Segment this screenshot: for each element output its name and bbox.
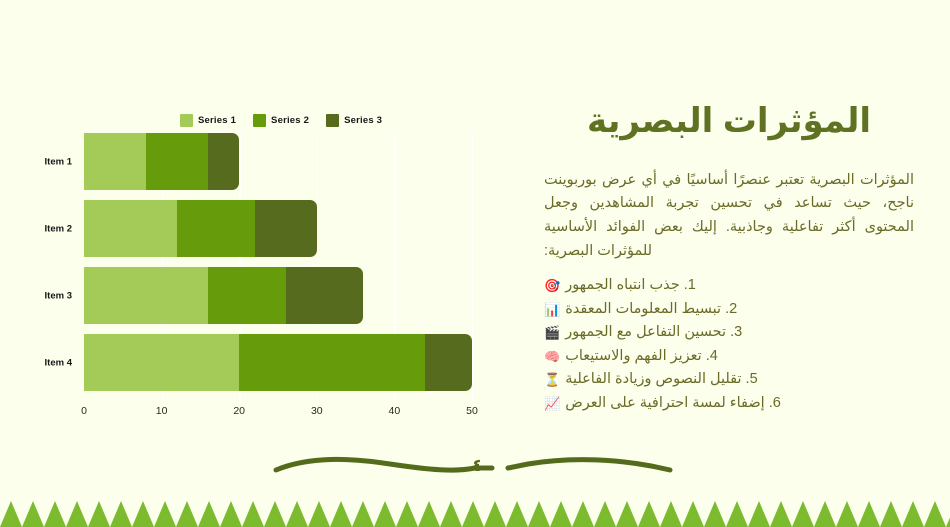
legend-entry-1: Series 1 (180, 114, 236, 127)
gridline (472, 133, 473, 403)
intro-paragraph: المؤثرات البصرية تعتبر عنصرًا أساسيًا في… (544, 169, 914, 265)
zigzag-shape (0, 501, 950, 527)
benefit-text: 3. تحسين التفاعل مع الجمهور (565, 321, 742, 344)
stacked-bar (84, 133, 239, 190)
page-title: المؤثرات البصرية (544, 100, 914, 143)
bar-segment-series-1 (84, 200, 177, 257)
benefit-text: 5. تقليل النصوص وزيادة الفاعلية (565, 368, 757, 391)
benefit-text: 4. تعزيز الفهم والاستيعاب (565, 345, 718, 368)
bar-segment-series-1 (84, 334, 239, 391)
trending-up-icon: 📈 (544, 397, 560, 410)
bar-chart-icon: 📊 (544, 303, 560, 316)
x-axis-tick: 10 (156, 405, 168, 417)
legend-swatch-icon (253, 114, 266, 127)
bar-segment-series-3 (286, 267, 364, 324)
benefit-item-4: 🧠4. تعزيز الفهم والاستيعاب (544, 345, 914, 368)
benefit-item-2: 📊2. تبسيط المعلومات المعقدة (544, 298, 914, 321)
legend-swatch-icon (180, 114, 193, 127)
category-label: Item 1 (45, 156, 72, 167)
bar-segment-series-2 (208, 267, 286, 324)
benefit-text: 2. تبسيط المعلومات المعقدة (565, 298, 737, 321)
benefit-text: 1. جذب انتباه الجمهور (565, 274, 696, 297)
benefit-item-1: 🎯1. جذب انتباه الجمهور (544, 274, 914, 297)
legend-label: Series 2 (271, 115, 309, 126)
bar-segment-series-3 (255, 200, 317, 257)
benefit-text: 6. إضفاء لمسة احترافية على العرض (565, 392, 781, 415)
bar-row: Item 1 (84, 133, 472, 190)
page-number: ٤ (472, 457, 482, 474)
x-axis-tick: 0 (81, 405, 87, 417)
legend-label: Series 3 (344, 115, 382, 126)
bar-segment-series-1 (84, 267, 208, 324)
x-axis-tick: 30 (311, 405, 323, 417)
category-label: Item 2 (45, 223, 72, 234)
benefits-list: 🎯1. جذب انتباه الجمهور📊2. تبسيط المعلوما… (544, 274, 914, 415)
x-axis-tick: 50 (466, 405, 478, 417)
stacked-bar (84, 334, 472, 391)
chart-plot-area: Item 1Item 2Item 3Item 4 (84, 133, 472, 403)
bar-row: Item 4 (84, 334, 472, 391)
legend-swatch-icon (326, 114, 339, 127)
bar-segment-series-2 (177, 200, 255, 257)
legend-label: Series 1 (198, 115, 236, 126)
bar-segment-series-2 (239, 334, 425, 391)
legend-entry-2: Series 2 (253, 114, 309, 127)
x-axis-tick: 20 (233, 405, 245, 417)
benefit-item-3: 🎬3. تحسين التفاعل مع الجمهور (544, 321, 914, 344)
benefit-item-6: 📈6. إضفاء لمسة احترافية على العرض (544, 392, 914, 415)
category-label: Item 3 (45, 290, 72, 301)
category-label: Item 4 (45, 357, 72, 368)
x-axis-tick: 40 (389, 405, 401, 417)
benefit-item-5: ⏳5. تقليل النصوص وزيادة الفاعلية (544, 368, 914, 391)
hourglass-icon: ⏳ (544, 373, 560, 386)
bar-segment-series-3 (425, 334, 472, 391)
zigzag-border (0, 497, 950, 527)
bar-row: Item 2 (84, 200, 472, 257)
bar-segment-series-3 (208, 133, 239, 190)
brain-icon: 🧠 (544, 350, 560, 363)
stacked-bar (84, 200, 317, 257)
clapperboard-icon: 🎬 (544, 326, 560, 339)
content-panel: المؤثرات البصرية المؤثرات البصرية تعتبر … (544, 100, 914, 415)
stacked-bar-chart: Series 1Series 2Series 3 Item 1Item 2Ite… (0, 0, 520, 460)
bar-segment-series-1 (84, 133, 146, 190)
bar-row: Item 3 (84, 267, 472, 324)
legend-entry-3: Series 3 (326, 114, 382, 127)
target-icon: 🎯 (544, 279, 560, 292)
chart-legend: Series 1Series 2Series 3 (180, 114, 382, 127)
chart-x-axis: 01020304050 (84, 405, 472, 425)
stacked-bar (84, 267, 363, 324)
bar-segment-series-2 (146, 133, 208, 190)
